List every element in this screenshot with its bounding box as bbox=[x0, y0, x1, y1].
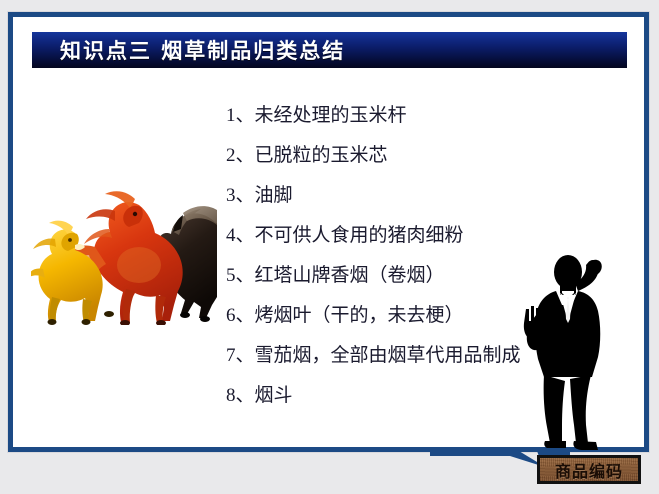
list-item-number: 3、 bbox=[226, 185, 255, 206]
businessman-silhouette bbox=[512, 253, 616, 453]
page-title: 知识点三 烟草制品归类总结 bbox=[60, 35, 345, 65]
list-item-label: 油脚 bbox=[255, 184, 293, 206]
list-item: 4、不可供人食用的猪肉细粉 bbox=[226, 215, 646, 255]
list-item-number: 7、 bbox=[226, 345, 255, 366]
list-item-label: 烟斗 bbox=[255, 384, 293, 406]
list-item: 2、已脱粒的玉米芯 bbox=[226, 135, 646, 175]
list-item-number: 5、 bbox=[226, 265, 255, 286]
product-code-text: 商品编码 bbox=[555, 458, 623, 482]
list-item-number: 4、 bbox=[226, 225, 255, 246]
list-item-number: 1、 bbox=[226, 105, 255, 126]
list-item-label: 已脱粒的玉米芯 bbox=[255, 144, 388, 166]
list-item-label: 未经处理的玉米杆 bbox=[255, 104, 407, 126]
slide-title-banner: 知识点三 烟草制品归类总结 bbox=[32, 32, 627, 68]
list-item-number: 2、 bbox=[226, 145, 255, 166]
list-item-label: 烤烟叶（干的，未去梗） bbox=[255, 304, 464, 326]
product-code-label[interactable]: 商品编码 bbox=[537, 455, 641, 484]
list-item-number: 6、 bbox=[226, 305, 255, 326]
list-item: 3、油脚 bbox=[226, 175, 646, 215]
list-item-label: 雪茄烟，全部由烟草代用品制成 bbox=[255, 344, 521, 366]
running-horses-image bbox=[31, 185, 217, 325]
list-item: 1、未经处理的玉米杆 bbox=[226, 95, 646, 135]
list-item-label: 红塔山牌香烟（卷烟） bbox=[255, 264, 445, 286]
list-item-label: 不可供人食用的猪肉细粉 bbox=[255, 224, 464, 246]
list-item-number: 8、 bbox=[226, 385, 255, 406]
